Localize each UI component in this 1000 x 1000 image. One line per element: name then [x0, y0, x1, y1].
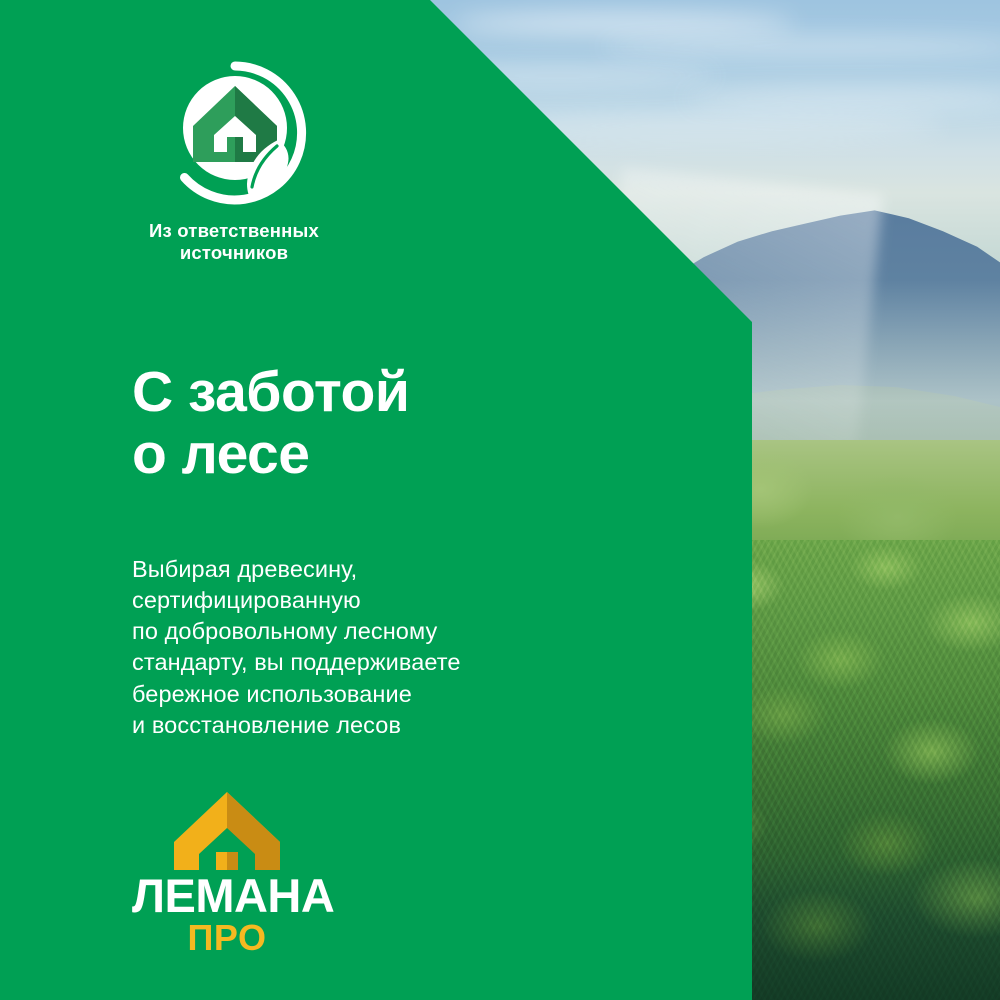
poster-root: Из ответственных источников С заботой о …	[0, 0, 1000, 1000]
brand-name: ЛЕМАНА	[132, 874, 322, 919]
body-paragraph: Выбирая древесину, сертифицированную по …	[132, 554, 461, 742]
responsible-sources-badge: Из ответственных источников	[132, 58, 392, 264]
responsible-sources-seal-icon	[160, 58, 310, 208]
lemana-house-logo-icon	[167, 790, 287, 872]
cloud-streak	[453, 13, 795, 34]
lemana-pro-logo: ЛЕМАНА ПРО	[132, 790, 322, 956]
cloud-streak	[687, 88, 1000, 109]
brand-subname: ПРО	[132, 920, 322, 956]
cloud-streak	[601, 38, 1000, 55]
page-title: С заботой о лесе	[132, 362, 409, 485]
responsible-sources-caption: Из ответственных источников	[134, 220, 334, 264]
